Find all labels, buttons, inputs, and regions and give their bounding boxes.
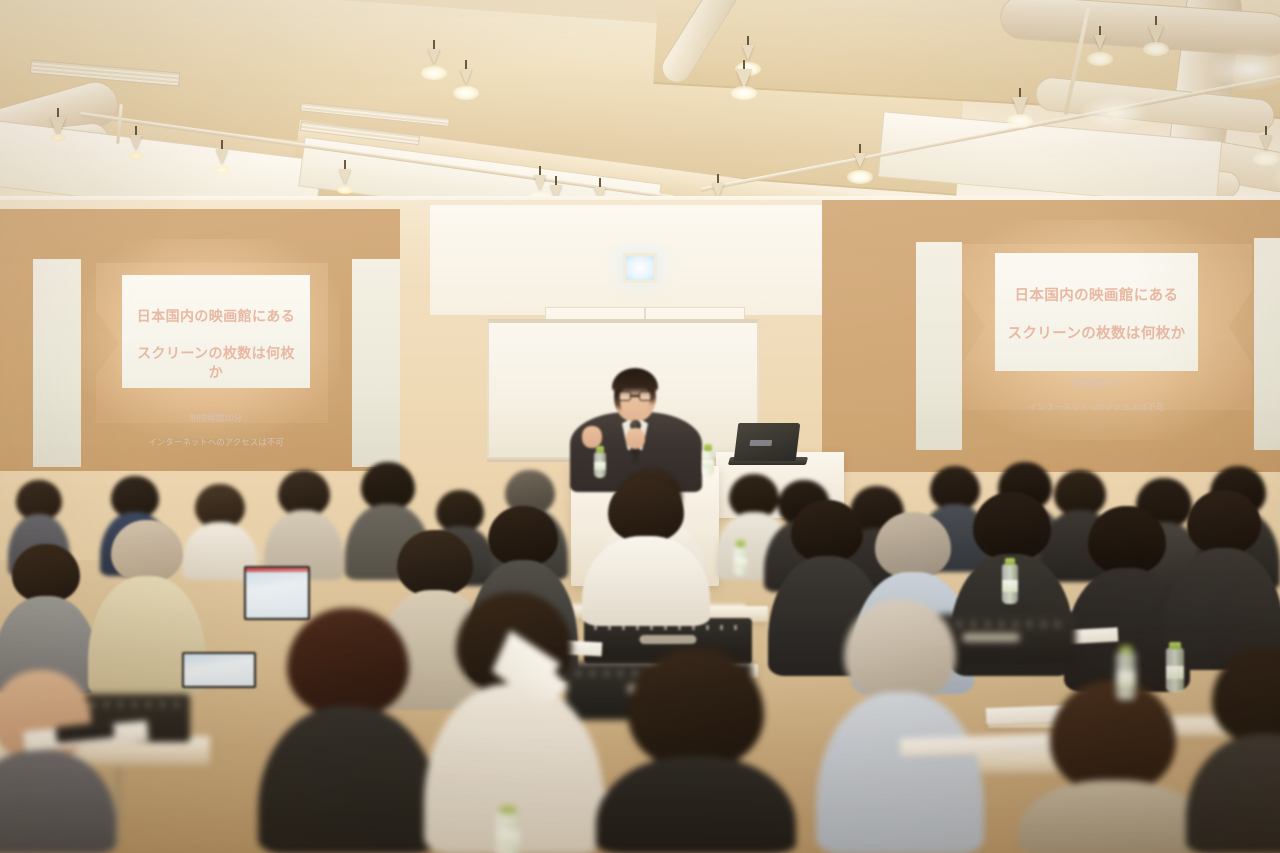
- laptop-screen-header: [246, 568, 308, 572]
- torso: [1018, 780, 1208, 853]
- ceiling: [0, 0, 1280, 206]
- slide-subtitle-left: 制限時間10分 インターネットへのアクセスは不可: [148, 399, 284, 448]
- slide-title-line2: スクリーンの枚数は何枚か: [1007, 326, 1185, 342]
- slide-subtitle-line2: インターネットへのアクセスは不可: [148, 437, 284, 447]
- head: [1088, 506, 1166, 574]
- head: [1212, 648, 1280, 744]
- head: [973, 492, 1051, 560]
- lamp-light-pool: [1080, 96, 1150, 130]
- torso: [1186, 734, 1280, 853]
- torso: [258, 706, 438, 853]
- recessed-wall-light: [623, 253, 657, 283]
- slide-title-line1: 日本国内の映画館にある: [137, 308, 295, 324]
- head: [287, 608, 409, 716]
- slide-title-right: 日本国内の映画館にある スクリーンの枚数は何枚か: [1007, 268, 1185, 345]
- projection-screen-right: 日本国内の映画館にある スクリーンの枚数は何枚か 制限時間10分 インターネット…: [822, 200, 1280, 472]
- projection-edge-bar-left: [33, 259, 81, 467]
- presenter-right-hand: [626, 428, 645, 449]
- water-bottle: [1116, 652, 1136, 700]
- torso: [816, 692, 984, 853]
- torso: [0, 750, 116, 853]
- projection-screen-left: 日本国内の映画館にある スクリーンの枚数は何枚か 制限時間10分 インターネット…: [0, 209, 400, 471]
- seminar-room-photo: 日本国内の映画館にある スクリーンの枚数は何枚か 制限時間10分 インターネット…: [0, 0, 1280, 853]
- head: [488, 506, 558, 566]
- audience-member: [258, 608, 438, 853]
- slide-title-line2: スクリーンの枚数は何枚か: [137, 345, 295, 379]
- head: [1187, 490, 1261, 554]
- presenter-laptop: [734, 423, 801, 461]
- slide-card-right: 日本国内の映画館にある スクリーンの枚数は何枚か 制限時間10分 インターネット…: [995, 253, 1198, 371]
- head: [628, 648, 764, 768]
- laptop-screen: [184, 654, 254, 686]
- attendee-laptop: [182, 652, 256, 688]
- audience-member: [264, 470, 344, 580]
- chair-handle-slot: [639, 635, 696, 643]
- slide-title-line1: 日本国内の映画館にある: [1015, 288, 1179, 304]
- audience-member: [1018, 680, 1208, 853]
- water-bottle: [496, 812, 520, 853]
- glasses-icon: [618, 391, 652, 401]
- water-bottle: [734, 546, 747, 576]
- laptop-logo-icon: [750, 440, 773, 446]
- slide-subtitle-line2: インターネットへのアクセスは不可: [1029, 402, 1165, 412]
- presenter-left-hand: [582, 426, 602, 448]
- head: [608, 478, 684, 542]
- audience-member: [1186, 648, 1280, 853]
- head: [361, 462, 415, 510]
- head: [397, 530, 473, 596]
- projection-edge-bar-right: [1254, 238, 1280, 450]
- head: [12, 544, 80, 602]
- head: [875, 512, 951, 578]
- audience-member: [1164, 490, 1280, 670]
- slide-subtitle-line1: 制限時間10分: [1071, 378, 1123, 388]
- slide-subtitle-line1: 制限時間10分: [190, 413, 242, 423]
- chair-perforation: [594, 625, 742, 630]
- slide-subtitle-right: 制限時間10分 インターネットへのアクセスは不可: [1029, 365, 1165, 414]
- audience-member: [596, 648, 796, 853]
- head: [1050, 680, 1176, 792]
- slide-card-left: 日本国内の映画館にある スクリーンの枚数は何枚か 制限時間10分 インターネット…: [122, 275, 310, 388]
- head: [844, 600, 956, 702]
- head: [111, 520, 183, 582]
- projection-edge-bar-right: [352, 259, 400, 467]
- audience-member: [816, 600, 984, 853]
- slide-title-left: 日本国内の映画館にある スクリーンの枚数は何枚か: [132, 289, 300, 381]
- projection-edge-bar-left: [916, 242, 962, 450]
- audience-member: [0, 670, 116, 853]
- torso: [596, 756, 796, 853]
- water-bottle: [1002, 564, 1018, 604]
